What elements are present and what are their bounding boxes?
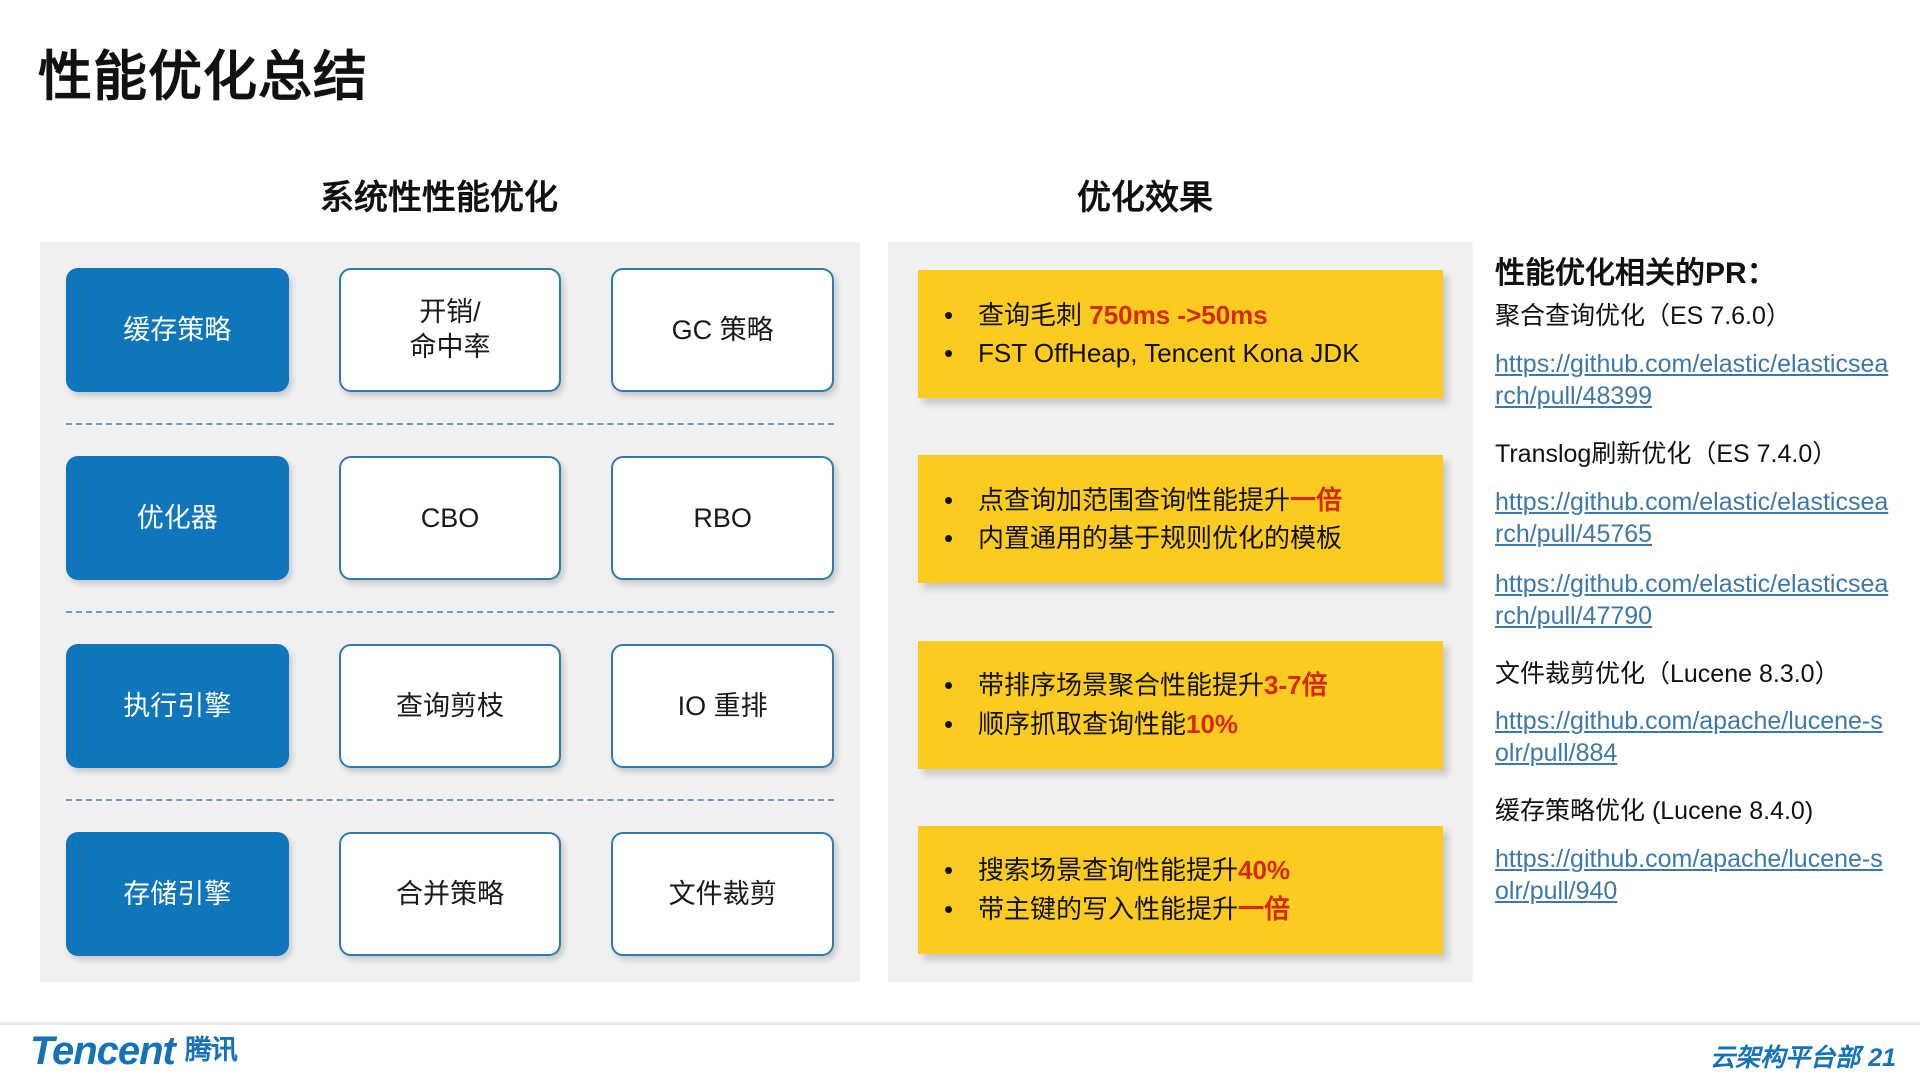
- matrix-row-divider: [66, 423, 834, 425]
- page-title: 性能优化总结: [38, 32, 368, 111]
- matrix-item-cell[interactable]: RBO: [611, 456, 834, 580]
- matrix-item-cell[interactable]: 查询剪枝: [339, 644, 562, 768]
- effect-bullet-line: •FST OffHeap, Tencent Kona JDK: [944, 337, 1421, 370]
- matrix-item-cell[interactable]: 开销/命中率: [339, 268, 562, 392]
- pr-group-label: 文件裁剪优化（Lucene 8.3.0）: [1495, 658, 1895, 692]
- effect-bullet-line: •查询毛刺 750ms ->50ms: [944, 299, 1421, 332]
- effect-bullet-line: •带主键的写入性能提升一倍: [944, 893, 1421, 926]
- optimization-effect-panel: •查询毛刺 750ms ->50ms•FST OffHeap, Tencent …: [888, 242, 1473, 982]
- effect-highlight-value: 40%: [1238, 855, 1290, 885]
- matrix-row: 优化器CBORBO: [66, 456, 834, 580]
- section-header-systematic-optimization: 系统性性能优化: [320, 170, 558, 219]
- effect-bullet-line: •顺序抓取查询性能10%: [944, 708, 1421, 741]
- effect-card: •带排序场景聚合性能提升3-7倍•顺序抓取查询性能10%: [918, 641, 1443, 769]
- pr-link[interactable]: https://github.com/elastic/elasticsearch…: [1495, 348, 1895, 412]
- optimization-matrix: 缓存策略开销/命中率GC 策略优化器CBORBO执行引擎查询剪枝IO 重排存储引…: [40, 242, 860, 982]
- pr-link[interactable]: https://github.com/elastic/elasticsearch…: [1495, 486, 1895, 550]
- pr-group: 聚合查询优化（ES 7.6.0）https://github.com/elast…: [1495, 300, 1895, 412]
- bullet-icon: •: [944, 337, 978, 370]
- bullet-icon: •: [944, 854, 978, 887]
- pr-group: Translog刷新优化（ES 7.4.0）https://github.com…: [1495, 438, 1895, 632]
- bullet-icon: •: [944, 484, 978, 517]
- effect-bullet-text: 顺序抓取查询性能10%: [978, 708, 1238, 741]
- effect-card: •查询毛刺 750ms ->50ms•FST OffHeap, Tencent …: [918, 270, 1443, 398]
- pr-link[interactable]: https://github.com/apache/lucene-solr/pu…: [1495, 843, 1895, 907]
- effect-highlight-value: 3-7倍: [1264, 670, 1328, 700]
- footer-divider: [0, 1022, 1920, 1025]
- pr-group: 缓存策略优化 (Lucene 8.4.0)https://github.com/…: [1495, 795, 1895, 907]
- matrix-item-cell[interactable]: IO 重排: [611, 644, 834, 768]
- bullet-icon: •: [944, 708, 978, 741]
- matrix-category-cell[interactable]: 执行引擎: [66, 644, 289, 768]
- matrix-item-cell[interactable]: GC 策略: [611, 268, 834, 392]
- effect-bullet-line: •搜索场景查询性能提升40%: [944, 854, 1421, 887]
- tencent-logo: Tencent腾讯: [30, 1028, 237, 1074]
- effect-bullet-text: 带主键的写入性能提升一倍: [978, 893, 1290, 926]
- effect-card: •搜索场景查询性能提升40%•带主键的写入性能提升一倍: [918, 826, 1443, 954]
- effect-bullet-text: 搜索场景查询性能提升40%: [978, 854, 1290, 887]
- matrix-row: 存储引擎合并策略文件裁剪: [66, 832, 834, 956]
- effect-bullet-line: •内置通用的基于规则优化的模板: [944, 522, 1421, 555]
- matrix-category-cell[interactable]: 缓存策略: [66, 268, 289, 392]
- effect-card: •点查询加范围查询性能提升一倍•内置通用的基于规则优化的模板: [918, 455, 1443, 583]
- tencent-logo-cn: 腾讯: [185, 1035, 237, 1065]
- footer-department: 云架构平台部: [1710, 1044, 1860, 1072]
- section-header-related-pr: 性能优化相关的PR：: [1495, 248, 1777, 292]
- matrix-row: 执行引擎查询剪枝IO 重排: [66, 644, 834, 768]
- matrix-category-cell[interactable]: 存储引擎: [66, 832, 289, 956]
- matrix-row: 缓存策略开销/命中率GC 策略: [66, 268, 834, 392]
- pr-link-list: 聚合查询优化（ES 7.6.0）https://github.com/elast…: [1495, 300, 1895, 933]
- matrix-item-cell[interactable]: 合并策略: [339, 832, 562, 956]
- matrix-item-cell[interactable]: CBO: [339, 456, 562, 580]
- footer-department-and-page: 云架构平台部21: [1710, 1038, 1896, 1074]
- effect-bullet-line: •带排序场景聚合性能提升3-7倍: [944, 669, 1421, 702]
- effect-highlight-value: 一倍: [1238, 894, 1290, 924]
- pr-link[interactable]: https://github.com/apache/lucene-solr/pu…: [1495, 705, 1895, 769]
- footer-page-number: 21: [1868, 1044, 1896, 1072]
- pr-group-label: 缓存策略优化 (Lucene 8.4.0): [1495, 795, 1895, 829]
- effect-bullet-text: 查询毛刺 750ms ->50ms: [978, 299, 1268, 332]
- bullet-icon: •: [944, 893, 978, 926]
- bullet-icon: •: [944, 522, 978, 555]
- matrix-row-divider: [66, 611, 834, 613]
- effect-card-list: •查询毛刺 750ms ->50ms•FST OffHeap, Tencent …: [888, 242, 1473, 982]
- matrix-row-divider: [66, 799, 834, 801]
- pr-group: 文件裁剪优化（Lucene 8.3.0）https://github.com/a…: [1495, 658, 1895, 770]
- pr-group-label: Translog刷新优化（ES 7.4.0）: [1495, 438, 1895, 472]
- pr-group-label: 聚合查询优化（ES 7.6.0）: [1495, 300, 1895, 334]
- section-header-optimization-effect: 优化效果: [1077, 170, 1213, 219]
- effect-highlight-value: 750ms ->50ms: [1089, 300, 1268, 330]
- effect-bullet-text: FST OffHeap, Tencent Kona JDK: [978, 337, 1360, 370]
- bullet-icon: •: [944, 669, 978, 702]
- effect-bullet-text: 带排序场景聚合性能提升3-7倍: [978, 669, 1328, 702]
- matrix-category-cell[interactable]: 优化器: [66, 456, 289, 580]
- bullet-icon: •: [944, 299, 978, 332]
- effect-highlight-value: 10%: [1186, 709, 1238, 739]
- effect-bullet-text: 点查询加范围查询性能提升一倍: [978, 484, 1342, 517]
- pr-link[interactable]: https://github.com/elastic/elasticsearch…: [1495, 568, 1895, 632]
- matrix-item-cell[interactable]: 文件裁剪: [611, 832, 834, 956]
- effect-highlight-value: 一倍: [1290, 485, 1342, 515]
- tencent-logo-latin: Tencent: [30, 1029, 175, 1073]
- systematic-optimization-panel: 缓存策略开销/命中率GC 策略优化器CBORBO执行引擎查询剪枝IO 重排存储引…: [40, 242, 860, 982]
- effect-bullet-text: 内置通用的基于规则优化的模板: [978, 522, 1342, 555]
- effect-bullet-line: •点查询加范围查询性能提升一倍: [944, 484, 1421, 517]
